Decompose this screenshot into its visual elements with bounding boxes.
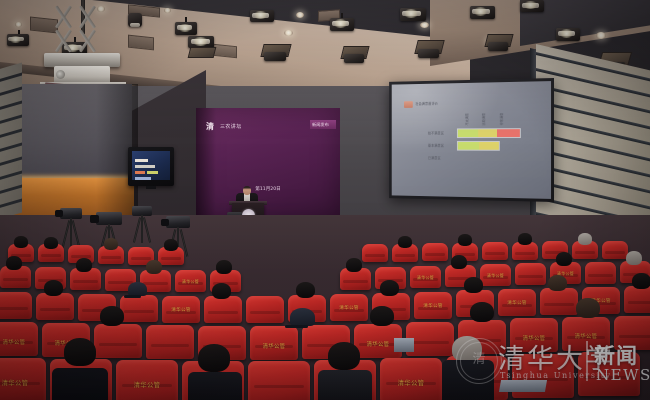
ceiling-vent-tile <box>128 35 154 51</box>
seat-label: 清华公管 <box>116 380 178 389</box>
audience-head <box>576 298 600 318</box>
audience-head <box>64 338 96 366</box>
speaker-shirt <box>244 194 250 201</box>
slide-title: 社会满意度评价 <box>415 102 438 106</box>
audience-head <box>470 302 494 322</box>
audience-head <box>328 342 360 370</box>
seat <box>94 324 142 358</box>
ceiling-downlight <box>596 32 606 39</box>
audience-torso <box>188 372 242 400</box>
slide-bar-segment <box>478 129 497 137</box>
audience-head <box>632 273 650 289</box>
seat <box>515 263 546 285</box>
audience-cap <box>128 282 147 296</box>
ceiling-downlight <box>420 22 429 28</box>
slide-bar-row-1 <box>457 128 521 138</box>
seat <box>540 288 578 315</box>
audience-head <box>518 233 532 245</box>
seat-label: 清华公管 <box>175 279 206 285</box>
monitor-bar <box>147 171 158 174</box>
seat <box>248 361 310 400</box>
tsinghua-seal-watermark: 清 <box>456 338 502 384</box>
monitor-bar <box>135 159 148 162</box>
monitor-bar <box>135 177 151 180</box>
ceiling-downlight <box>296 12 304 18</box>
slide-bar-segment <box>497 129 520 137</box>
seat <box>585 262 616 284</box>
seat <box>422 243 448 261</box>
seat <box>204 296 242 323</box>
projection-screen-frame: 社会满意度评价 不太满意 比较满意 非常满意 较不满意区 基本满意区 已满意区 <box>389 78 554 202</box>
auditorium-photo: 社会满意度评价 不太满意 比较满意 非常满意 较不满意区 基本满意区 已满意区 <box>0 0 650 400</box>
audience-head <box>556 252 572 266</box>
projector-mount-head <box>44 53 120 67</box>
wall-monitor <box>128 147 174 186</box>
audience-head <box>451 255 467 269</box>
seat-label: 清华公管 <box>0 338 38 346</box>
watermark-news-en: NEWS <box>596 366 650 384</box>
projection-screen: 社会满意度评价 不太满意 比较满意 非常满意 较不满意区 基本满意区 已满意区 <box>392 81 551 199</box>
audience-head <box>76 258 92 272</box>
slide-column-header: 不太满意 <box>464 113 469 125</box>
slide-bar-segment <box>458 129 478 137</box>
monitor-bar <box>135 165 155 168</box>
wall-monitor-stand <box>146 186 156 189</box>
audience-torso <box>52 368 108 400</box>
slide-column-header: 比较满意 <box>481 113 486 125</box>
audience-head <box>212 283 231 299</box>
banner-corner-tag: 新闻发布 <box>310 120 336 129</box>
audience-head <box>380 280 399 296</box>
seat <box>624 286 650 313</box>
audience-head <box>548 275 567 291</box>
audience-head <box>464 277 483 293</box>
ceiling-downlight <box>15 22 22 27</box>
speaker-head <box>243 186 251 195</box>
seat-label: 清华公管 <box>0 378 46 387</box>
slide-bar-segment <box>458 142 479 150</box>
slide-row-label: 已满意区 <box>428 156 441 160</box>
audience-head <box>44 280 63 296</box>
audience-head <box>198 344 230 372</box>
audience-head <box>164 239 178 251</box>
banner-logo: 清 三农讲坛 <box>206 121 260 132</box>
slide-row-label: 较不满意区 <box>428 131 444 135</box>
monitor-bar <box>135 171 145 174</box>
seat <box>362 244 388 262</box>
banner-date: 第11月20日 <box>246 186 290 192</box>
banner-logo-subtitle: 三农讲坛 <box>220 123 242 130</box>
audience-head <box>6 256 22 270</box>
audience-cap <box>290 308 315 326</box>
slide-column-header: 非常满意 <box>499 113 504 126</box>
audience-head <box>370 306 394 326</box>
seat-label: 清华公管 <box>162 307 200 313</box>
audience-head <box>398 236 412 248</box>
audience-head <box>44 237 58 249</box>
audience-head <box>216 260 232 274</box>
slide-row-label: 基本满意区 <box>428 144 444 148</box>
audience-head <box>296 282 315 298</box>
audience-head <box>100 306 124 326</box>
projector-scissor-arms <box>52 4 114 56</box>
seat <box>0 292 32 319</box>
audience-head <box>626 251 642 265</box>
seat-label: 清华公管 <box>330 305 368 311</box>
seat <box>120 295 158 322</box>
wall-monitor-screen <box>132 151 170 180</box>
seat-label: 清华公管 <box>480 273 511 279</box>
seat <box>602 241 628 259</box>
watermark-divider <box>586 341 588 381</box>
left-slat-wall <box>0 63 22 220</box>
slide-legend-swatch <box>404 101 413 108</box>
seat <box>482 242 508 260</box>
audience-laptop <box>394 338 414 352</box>
banner-logo-mark: 清 <box>206 121 218 132</box>
audience-head <box>146 260 162 274</box>
seat-label: 清华公管 <box>498 300 536 306</box>
slide-bar-segment <box>479 142 499 150</box>
audience-laptop <box>499 380 547 392</box>
ceiling-downlight <box>164 8 171 13</box>
audience-head <box>346 258 362 272</box>
audience-head <box>458 234 472 246</box>
audience-head <box>578 233 592 245</box>
seat <box>36 293 74 320</box>
seat <box>146 325 194 359</box>
projector-lens <box>56 70 65 79</box>
watermark-university-en: Tsinghua University <box>500 371 612 380</box>
ceiling-downlight <box>284 30 293 36</box>
seat-label: 清华公管 <box>410 275 441 281</box>
audience-head <box>104 238 118 250</box>
slide-bar-row-2 <box>457 141 500 151</box>
seat-label: 清华公管 <box>380 378 442 387</box>
audience-torso <box>318 370 372 400</box>
banner-corner-tag-label: 新闻发布 <box>312 122 329 128</box>
ceiling-vent-tile <box>213 44 237 59</box>
seat-label: 清华公管 <box>250 342 298 350</box>
seat-label: 清华公管 <box>414 303 452 309</box>
seal-glyph: 清 <box>457 348 501 367</box>
seat <box>246 296 284 323</box>
audience-head <box>14 236 28 248</box>
